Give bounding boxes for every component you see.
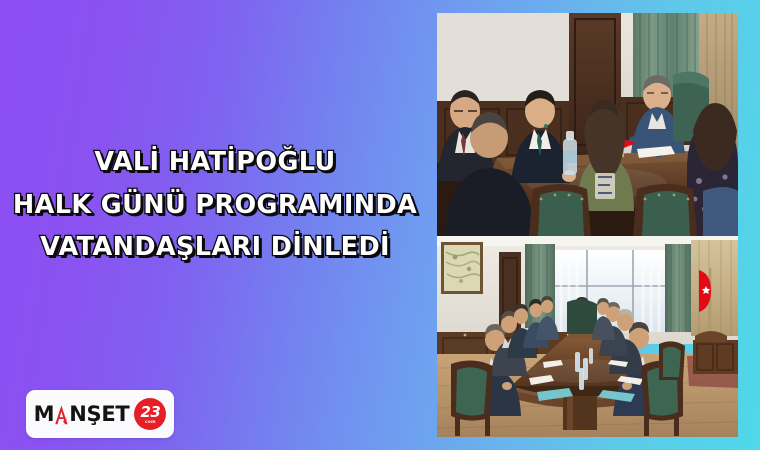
news-banner: VALİ HATİPOĞLU HALK GÜNÜ PROGRAMINDA VAT… (0, 0, 760, 450)
logo-badge-23: 23 com (134, 398, 166, 430)
logo-badge-subtext: com (145, 421, 156, 425)
headline-line-2: HALK GÜNÜ PROGRAMINDA (0, 193, 430, 219)
headline-block: VALİ HATİPOĞLU HALK GÜNÜ PROGRAMINDA VAT… (0, 150, 430, 261)
logo-accent-a-icon (54, 404, 69, 425)
logo-text-part2: NŞET (69, 404, 129, 425)
logo-badge-number: 23 (140, 405, 160, 420)
photo-top (437, 13, 738, 236)
headline-line-1: VALİ HATİPOĞLU (0, 150, 430, 176)
logo-text-part1: M (34, 404, 55, 425)
photo-bottom (437, 236, 738, 437)
headline-line-3: VATANDAŞLARI DİNLEDİ (0, 235, 430, 261)
site-logo[interactable]: M NŞET 23 com (26, 390, 174, 438)
photo-collage (437, 13, 738, 437)
logo-wordmark: M NŞET (34, 404, 130, 425)
